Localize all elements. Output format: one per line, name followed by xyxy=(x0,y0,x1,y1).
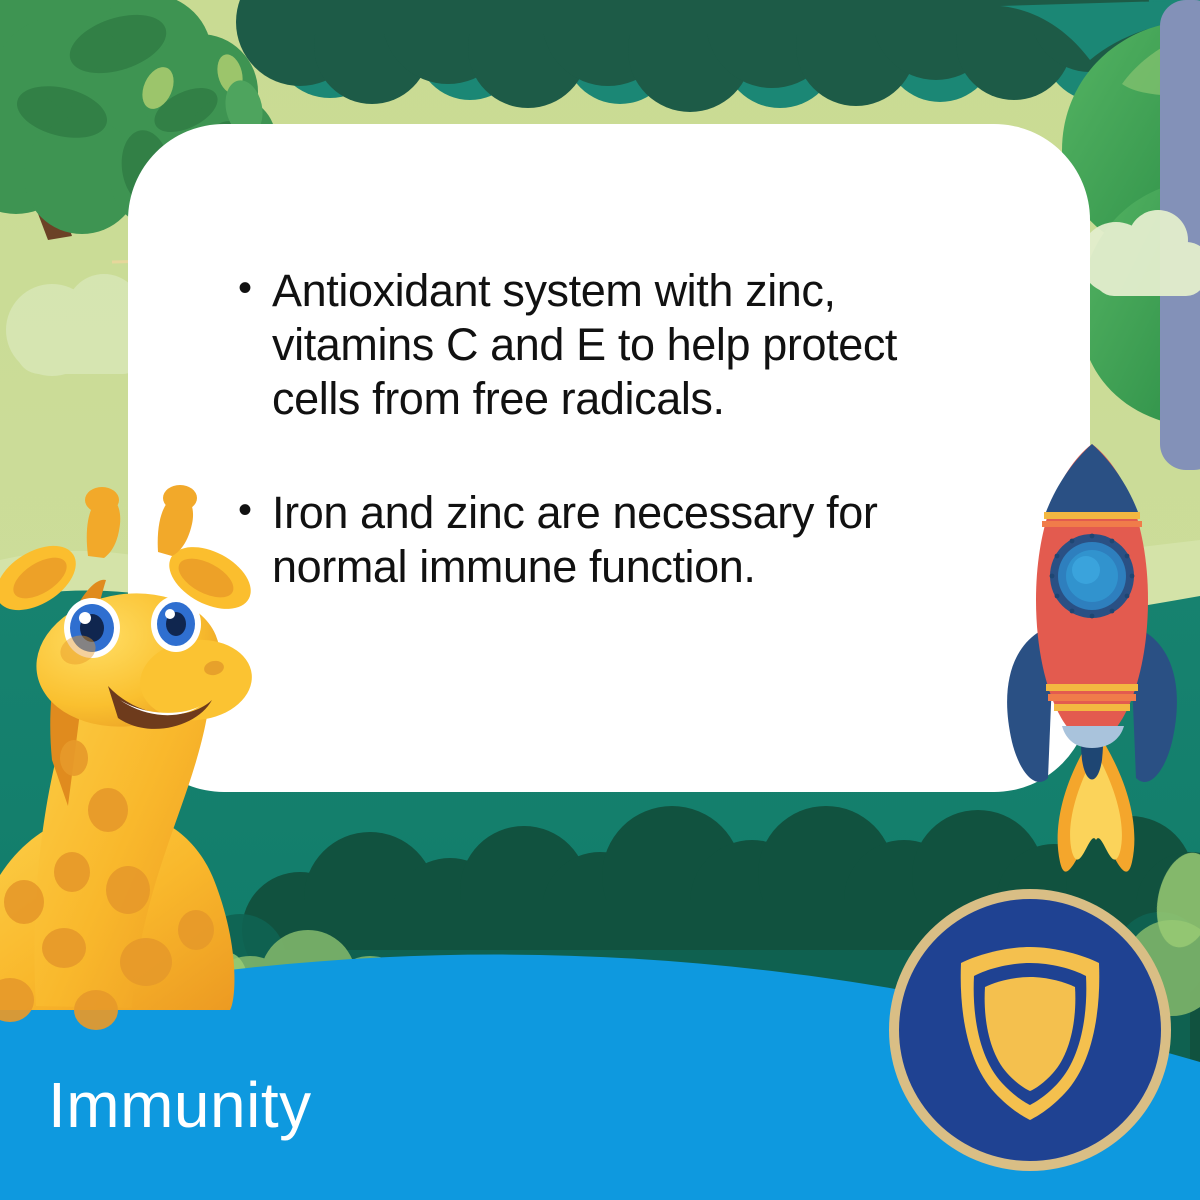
slide-canvas: • Antioxidant system with zinc, vitamins… xyxy=(0,0,1200,1200)
rocket-nose-cone xyxy=(1046,444,1138,512)
rocket-engine xyxy=(1062,726,1124,748)
shield-badge xyxy=(885,885,1175,1175)
slide-title: Immunity xyxy=(48,1068,312,1142)
